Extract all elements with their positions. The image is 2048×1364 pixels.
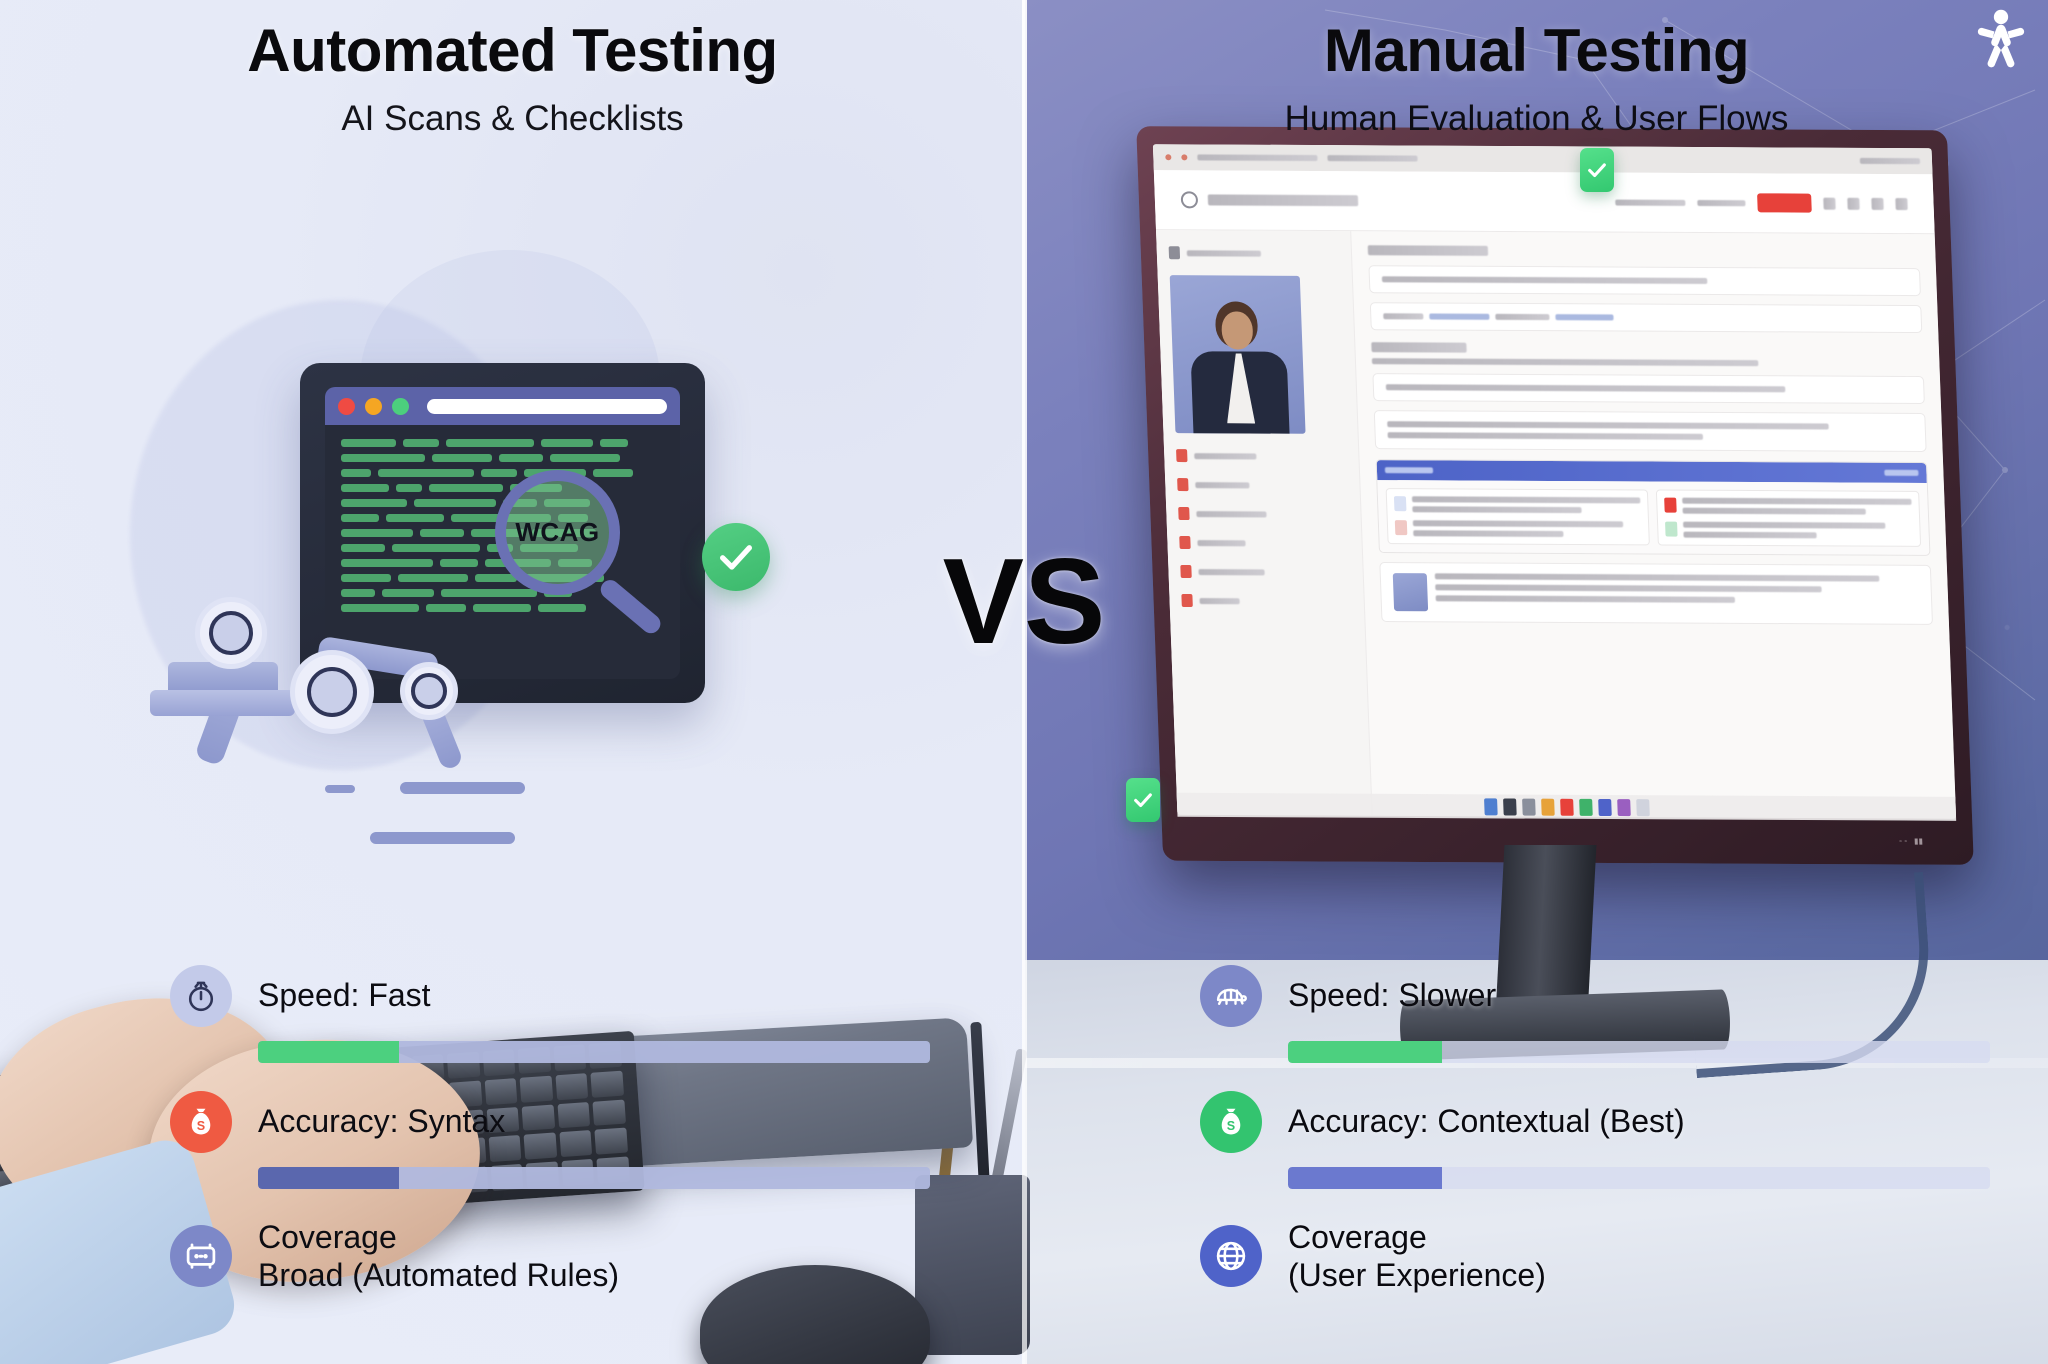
right-metrics-list: Speed: Slower S Accuracy: Contextual (Be… xyxy=(1200,965,1990,1323)
money-bag-icon: S xyxy=(1200,1091,1262,1153)
left-metrics-list: Speed: Fast S Accuracy: Syntax xyxy=(170,965,930,1323)
metric-accuracy: S Accuracy: Syntax xyxy=(170,1091,930,1189)
list-icon xyxy=(1178,507,1189,520)
pen-cup xyxy=(915,1175,1030,1355)
motion-line xyxy=(325,785,355,793)
banner-action-blurred[interactable] xyxy=(1884,470,1918,476)
left-subtitle: AI Scans & Checklists xyxy=(0,99,1025,139)
bell-icon[interactable] xyxy=(1823,197,1835,209)
metric-accuracy: S Accuracy: Contextual (Best) xyxy=(1200,1091,1990,1189)
metric-progress-fill xyxy=(258,1041,399,1063)
sidebar-item[interactable] xyxy=(1177,478,1347,492)
ok-icon xyxy=(1665,522,1678,537)
taskbar-dock[interactable] xyxy=(1177,793,1957,821)
check-tag-icon xyxy=(1126,778,1160,822)
metric-speed: Speed: Slower xyxy=(1200,965,1990,1063)
metric-label-line1: Coverage xyxy=(258,1219,397,1255)
check-tag-icon xyxy=(1580,148,1614,192)
robot-device-icon xyxy=(170,1225,232,1287)
chip-blurred xyxy=(1495,314,1549,320)
metric-progress-track xyxy=(1288,1041,1990,1063)
robot-arm-joint xyxy=(290,650,374,734)
brand-logo-icon xyxy=(1181,191,1199,208)
section-heading-blurred xyxy=(1371,342,1466,352)
motion-line xyxy=(400,782,525,794)
metric-coverage: Coverage (User Experience) xyxy=(1200,1217,1990,1295)
monitor-indicator: ◦ ◦ xyxy=(1899,836,1907,845)
mini-row-blurred xyxy=(1412,520,1623,527)
doc-icon xyxy=(1393,496,1406,511)
metric-label-line2: Broad (Automated Rules) xyxy=(258,1257,619,1293)
robot-arm-base xyxy=(150,690,295,716)
sidebar-item[interactable] xyxy=(1176,449,1346,463)
window-maximize-dot[interactable] xyxy=(392,398,409,415)
right-title: Manual Testing xyxy=(1025,16,2048,85)
grid-icon[interactable] xyxy=(1871,197,1883,209)
field-label-blurred xyxy=(1383,313,1423,319)
list-row[interactable] xyxy=(1372,373,1925,404)
browser-tabstrip[interactable] xyxy=(1153,144,1933,174)
list-row[interactable] xyxy=(1373,410,1926,452)
help-icon[interactable] xyxy=(1847,197,1859,209)
panel-divider xyxy=(1022,0,1027,1364)
metric-coverage: Coverage Broad (Automated Rules) xyxy=(170,1217,930,1295)
metric-label: Coverage (User Experience) xyxy=(1288,1219,1546,1295)
sidebar-item[interactable] xyxy=(1178,507,1348,521)
metric-progress-track xyxy=(258,1041,930,1063)
sidebar-item-label xyxy=(1194,453,1256,459)
monitor-screen xyxy=(1153,144,1956,819)
detail-card[interactable] xyxy=(1368,265,1921,296)
detail-card[interactable] xyxy=(1369,302,1922,333)
chip-blurred xyxy=(1555,314,1613,320)
app-body xyxy=(1156,230,1956,819)
metric-label: Speed: Fast xyxy=(258,977,431,1015)
left-heading-block: Automated Testing AI Scans & Checklists xyxy=(0,16,1025,139)
metric-speed: Speed: Fast xyxy=(170,965,930,1063)
monitor: ◦ ◦ ▮▮ xyxy=(1136,126,1974,865)
dock-icon[interactable] xyxy=(1598,798,1612,815)
nav-link-blurred[interactable] xyxy=(1697,200,1745,206)
right-subtitle: Human Evaluation & User Flows xyxy=(1025,99,2048,139)
dock-icon[interactable] xyxy=(1522,798,1536,815)
profile-photo xyxy=(1170,275,1306,434)
turtle-icon xyxy=(1200,965,1262,1027)
app-main-content xyxy=(1351,231,1956,819)
app-header-actions[interactable] xyxy=(1615,193,1908,214)
sidebar-item-label xyxy=(1195,482,1249,488)
doc-icon xyxy=(1394,520,1407,535)
chip-blurred xyxy=(1429,313,1489,319)
left-title: Automated Testing xyxy=(0,16,1025,85)
sidebar-label-blurred xyxy=(1187,250,1261,256)
globe-icon xyxy=(1200,1225,1262,1287)
metric-progress-track xyxy=(258,1167,930,1189)
tab-favicon xyxy=(1181,154,1187,160)
metric-progress-fill xyxy=(1288,1167,1442,1189)
money-bag-icon: S xyxy=(170,1091,232,1153)
user-icon xyxy=(1169,246,1180,259)
list-icon xyxy=(1177,478,1188,491)
dock-icon[interactable] xyxy=(1636,799,1650,816)
metric-progress-fill xyxy=(258,1167,399,1189)
banner-title-blurred xyxy=(1384,467,1432,473)
right-heading-block: Manual Testing Human Evaluation & User F… xyxy=(1025,16,2048,139)
monitor-brand: ▮▮ xyxy=(1914,836,1923,845)
comparison-infographic: WCAG xyxy=(0,0,2048,1364)
dock-icon[interactable] xyxy=(1560,798,1574,815)
mini-row-blurred xyxy=(1412,506,1582,513)
dock-icon[interactable] xyxy=(1579,798,1593,815)
metric-label: Accuracy: Contextual (Best) xyxy=(1288,1103,1685,1141)
mini-row-blurred xyxy=(1413,530,1564,537)
window-close-dot[interactable] xyxy=(338,398,355,415)
metric-label-line2: (User Experience) xyxy=(1288,1257,1546,1293)
sidebar-item-label xyxy=(1196,511,1266,517)
row-text-blurred xyxy=(1385,384,1785,392)
app-sidebar[interactable] xyxy=(1156,230,1372,816)
accessibility-person-icon xyxy=(1972,8,2030,70)
row-text-blurred xyxy=(1387,432,1703,440)
svg-text:S: S xyxy=(1227,1119,1235,1133)
metric-label: Coverage Broad (Automated Rules) xyxy=(258,1219,619,1295)
primary-action-button[interactable] xyxy=(1757,193,1812,212)
stopwatch-icon xyxy=(170,965,232,1027)
dock-icon[interactable] xyxy=(1541,798,1555,815)
alert-icon xyxy=(1664,498,1677,513)
metric-label: Speed: Slower xyxy=(1288,977,1496,1015)
sidebar-header xyxy=(1169,246,1339,260)
dock-icon[interactable] xyxy=(1617,799,1631,816)
section-heading-blurred xyxy=(1367,245,1487,256)
vs-label: VS xyxy=(0,540,2048,662)
list-icon xyxy=(1176,449,1187,462)
window-minimize-dot[interactable] xyxy=(365,398,382,415)
app-header xyxy=(1154,170,1935,234)
mini-card[interactable] xyxy=(1385,488,1650,545)
dock-icon[interactable] xyxy=(1503,798,1517,815)
mini-row-blurred xyxy=(1683,522,1885,529)
mini-row-blurred xyxy=(1682,498,1911,505)
motion-line xyxy=(370,832,515,844)
menu-icon[interactable] xyxy=(1895,198,1907,210)
toolbar-blurred xyxy=(1860,158,1920,164)
field-value-blurred xyxy=(1381,276,1707,284)
paragraph-blurred xyxy=(1371,358,1758,366)
mini-row-blurred xyxy=(1411,496,1640,503)
tab-title-blurred xyxy=(1327,155,1417,161)
metric-label: Accuracy: Syntax xyxy=(258,1103,505,1141)
dock-icon[interactable] xyxy=(1484,798,1498,815)
metric-progress-track xyxy=(1288,1167,1990,1189)
photo-face xyxy=(1221,311,1253,349)
row-text-blurred xyxy=(1387,421,1829,429)
app-mockup xyxy=(1153,144,1956,819)
mini-row-blurred xyxy=(1684,532,1817,539)
browser-titlebar xyxy=(325,387,680,425)
metric-progress-fill xyxy=(1288,1041,1442,1063)
metric-label-line1: Coverage xyxy=(1288,1219,1427,1255)
address-bar[interactable] xyxy=(427,399,667,414)
robot-arm-joint xyxy=(400,662,458,720)
tab-title-blurred xyxy=(1197,154,1317,161)
tab-favicon xyxy=(1165,154,1171,160)
svg-text:S: S xyxy=(197,1119,205,1133)
brand-name-blurred xyxy=(1208,194,1359,206)
nav-link-blurred[interactable] xyxy=(1615,199,1685,205)
mini-card[interactable] xyxy=(1656,490,1921,547)
mini-row-blurred xyxy=(1683,508,1866,515)
